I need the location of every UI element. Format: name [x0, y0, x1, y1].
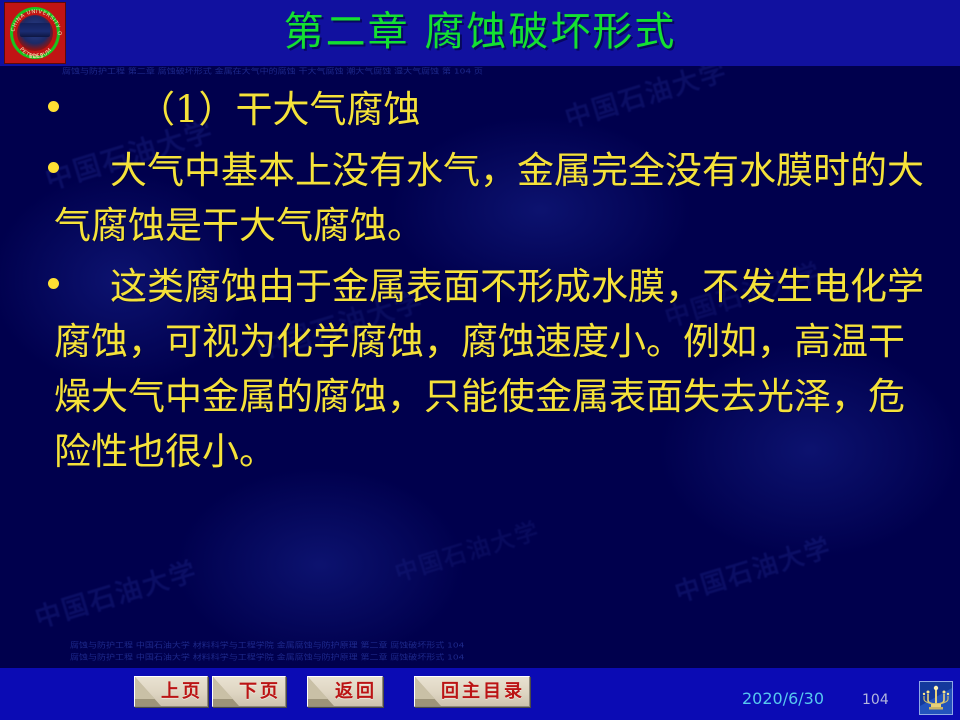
bullet-paragraph: （1）干大气腐蚀 [0, 82, 960, 137]
paragraph-text: （1）干大气腐蚀 [82, 82, 930, 137]
bullet-paragraph: 大气中基本上没有水气，金属完全没有水膜时的大气腐蚀是干大气腐蚀。 [0, 143, 960, 253]
button-corner-decoration [135, 677, 155, 699]
bullet-paragraph: 这类腐蚀由于金属表面不形成水膜，不发生电化学腐蚀，可视为化学腐蚀，腐蚀速度小。例… [0, 259, 960, 479]
faint-footer-strip-text: 腐蚀与防护工程 中国石油大学 材料科学与工程学院 金属腐蚀与防护原理 第二章 腐… [70, 641, 950, 652]
candelabra-icon [920, 682, 952, 714]
button-corner-decoration [308, 677, 328, 699]
back-button-label: 返回 [334, 677, 378, 706]
faint-footer-strip-text: 腐蚀与防护工程 中国石油大学 材料科学与工程学院 金属腐蚀与防护原理 第二章 腐… [70, 653, 950, 664]
button-corner-decoration [415, 677, 435, 699]
slide-header-band: 第二章 腐蚀破坏形式 [0, 0, 960, 66]
paragraph-text: 这类腐蚀由于金属表面不形成水膜，不发生电化学腐蚀，可视为化学腐蚀，腐蚀速度小。例… [54, 259, 930, 479]
watermark-text: 中国石油大学 [390, 511, 543, 587]
watermark-text: 中国石油大学 [670, 528, 835, 610]
slide-title: 第二章 腐蚀破坏形式 [0, 4, 960, 60]
svg-text:CHINA UNIVERSITY OF: CHINA UNIVERSITY OF [5, 3, 62, 36]
next-page-button[interactable]: 下页 [212, 676, 286, 707]
next-page-button-label: 下页 [239, 677, 281, 706]
slide-date: 2020/6/30 [742, 689, 824, 709]
faint-header-strip-text: 腐蚀与防护工程 第二章 腐蚀破坏形式 金属在大气中的腐蚀 干大气腐蚀 潮大气腐蚀… [62, 67, 950, 78]
logo-year: 1953 [5, 53, 67, 60]
university-logo: CHINA UNIVERSITY OF PETROLEUM 1953 [4, 2, 66, 64]
previous-page-button[interactable]: 上页 [134, 676, 208, 707]
decorative-thumbnail-image [919, 681, 953, 715]
slide-body: （1）干大气腐蚀 大气中基本上没有水气，金属完全没有水膜时的大气腐蚀是干大气腐蚀… [0, 82, 960, 485]
previous-page-button-label: 上页 [161, 677, 203, 706]
bullet-marker [48, 82, 82, 112]
main-menu-button-label: 回主目录 [441, 677, 525, 706]
paragraph-text: 大气中基本上没有水气，金属完全没有水膜时的大气腐蚀是干大气腐蚀。 [54, 143, 930, 253]
watermark-text: 中国石油大学 [30, 551, 201, 636]
button-corner-decoration [213, 677, 233, 699]
back-button[interactable]: 返回 [307, 676, 383, 707]
slide-page-number: 104 [862, 691, 889, 709]
main-menu-button[interactable]: 回主目录 [414, 676, 530, 707]
presentation-slide: 中国石油大学 中国石油大学 中国石油大学 中国石油大学 中国石油大学 中国石油大… [0, 0, 960, 720]
